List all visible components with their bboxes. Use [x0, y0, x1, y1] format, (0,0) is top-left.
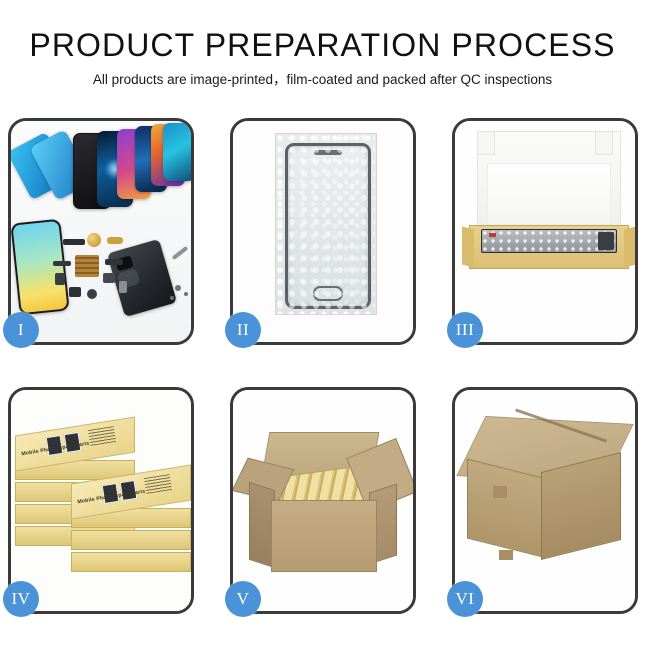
- spare-part-camera-module: [103, 273, 115, 283]
- retail-box: [71, 530, 191, 550]
- spare-part-speaker: [87, 233, 101, 247]
- step-image-1: [11, 121, 191, 342]
- sealed-carton-right-face: [541, 452, 621, 560]
- retail-box-stack: Mobile Phone Spare Parts Mobile Phone Sp…: [15, 416, 191, 580]
- box-lid-flap-left: [477, 131, 495, 155]
- carton-front-panel: [271, 500, 377, 572]
- header: PRODUCT PREPARATION PROCESS All products…: [0, 26, 645, 90]
- step-panel-3[interactable]: III: [452, 118, 638, 345]
- phone-display-large: [11, 219, 70, 316]
- step-panel-4[interactable]: Mobile Phone Spare Parts Mobile Phone Sp…: [8, 387, 194, 614]
- step-image-6: [455, 390, 635, 611]
- carton-tape-patch-upper: [493, 486, 507, 498]
- foam-insert: [487, 163, 611, 229]
- step-image-3: [455, 121, 635, 342]
- step-panel-1[interactable]: I: [8, 118, 194, 345]
- page-subtitle: All products are image-printed，film-coat…: [0, 70, 645, 90]
- step-badge-1: I: [3, 312, 39, 348]
- step-badge-6: VI: [447, 581, 483, 617]
- phone-back-housing: [107, 239, 177, 317]
- step-badge-4: IV: [3, 581, 39, 617]
- step-image-4: Mobile Phone Spare Parts Mobile Phone Sp…: [11, 390, 191, 611]
- qc-sticker: [489, 233, 496, 237]
- spare-part-button: [55, 273, 65, 285]
- process-step-grid: I II III: [8, 118, 638, 614]
- spare-part-screws: [175, 285, 181, 291]
- step-panel-6[interactable]: VI: [452, 387, 638, 614]
- phone-glass-screen: [285, 143, 371, 309]
- step-panel-2[interactable]: II: [230, 118, 416, 345]
- step-image-2: [233, 121, 413, 342]
- spare-part-vibrator: [87, 289, 97, 299]
- phone-screen-cyan: [163, 123, 191, 181]
- step-badge-2: II: [225, 312, 261, 348]
- step-image-5: [233, 390, 413, 611]
- spare-part-logic-board: [75, 255, 99, 277]
- step-panel-5[interactable]: V: [230, 387, 416, 614]
- spare-part-flex-cable: [107, 237, 123, 244]
- spare-part-battery-clip: [119, 281, 127, 293]
- box-lid-flap-right: [595, 131, 613, 155]
- step-badge-5: V: [225, 581, 261, 617]
- step-badge-3: III: [447, 312, 483, 348]
- carton-tape-patch-lower: [499, 550, 513, 560]
- repair-tool-tweezers: [172, 246, 189, 260]
- spare-part-ribbon: [53, 261, 71, 266]
- infographic-page: PRODUCT PREPARATION PROCESS All products…: [0, 0, 645, 645]
- spare-part-antenna: [105, 259, 123, 265]
- retail-box: [71, 552, 191, 572]
- spare-part-connector: [63, 239, 85, 245]
- page-title: PRODUCT PREPARATION PROCESS: [0, 26, 645, 64]
- spare-part-sim-tray: [69, 287, 81, 297]
- wrapped-product-in-tray: [481, 229, 617, 253]
